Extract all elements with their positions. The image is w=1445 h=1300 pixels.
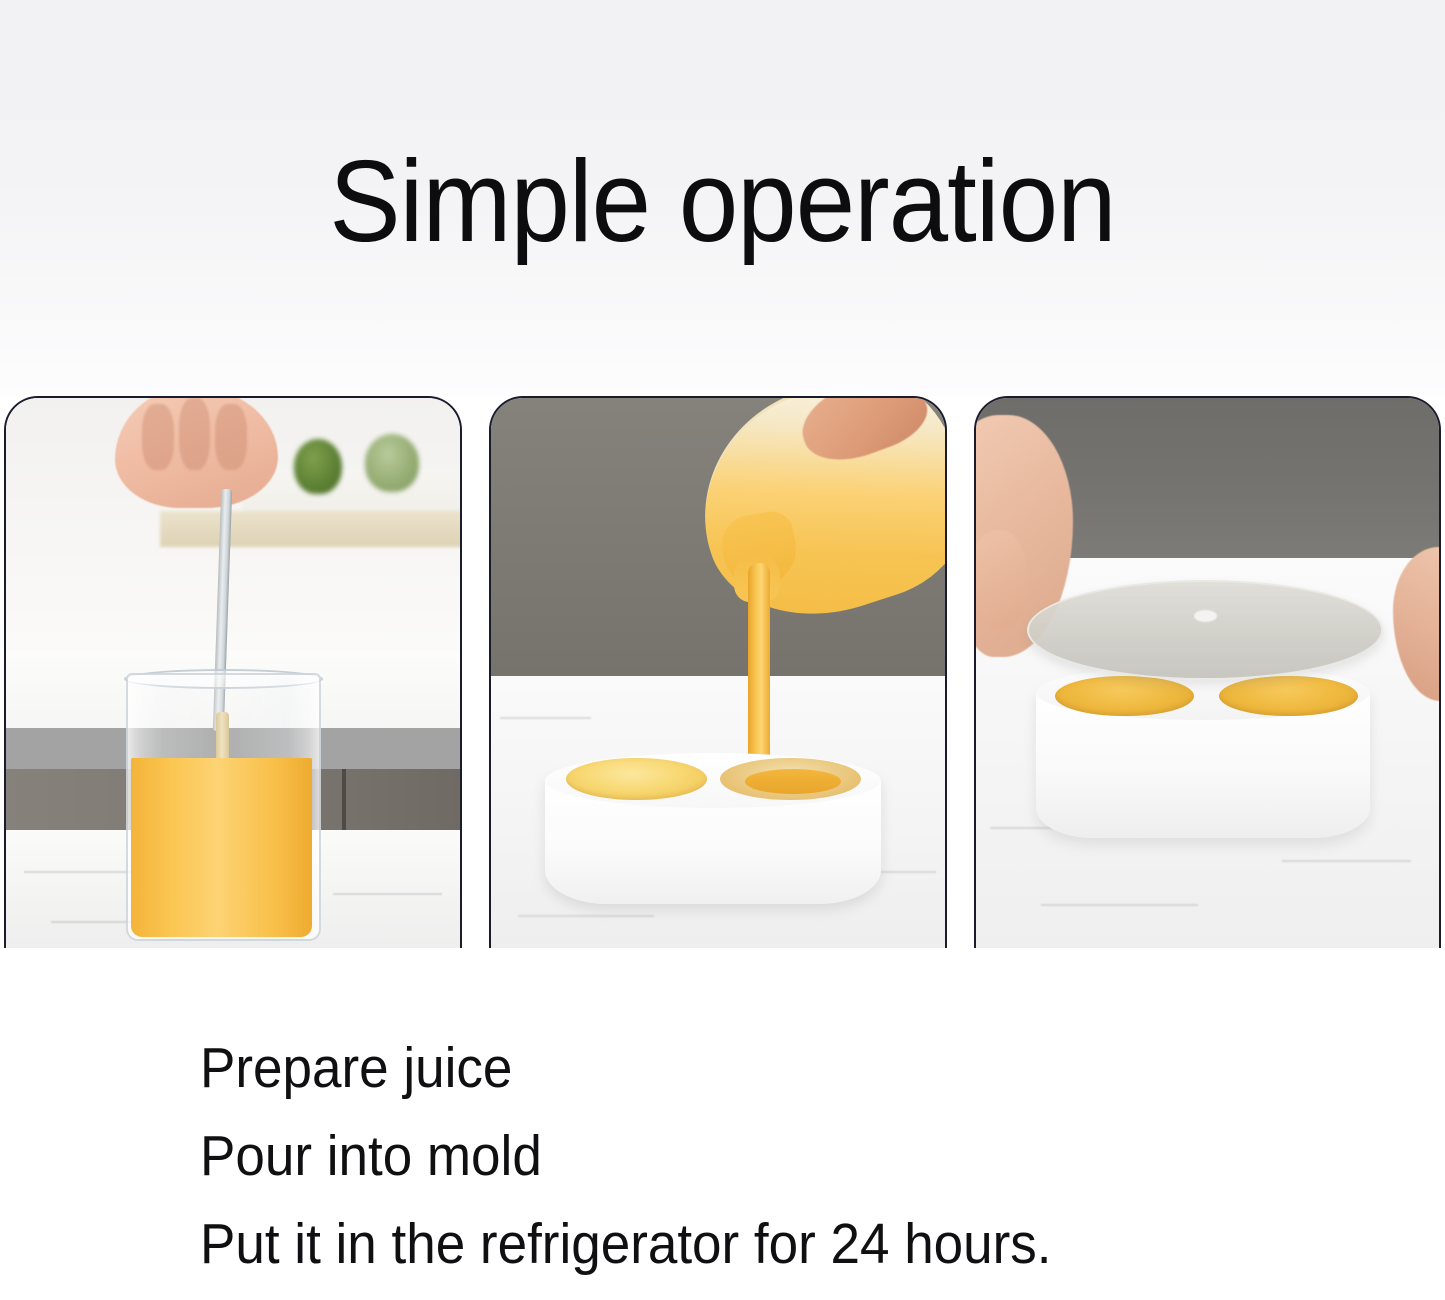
orange-juice [131,758,313,937]
header-band: Simple operation [0,0,1445,396]
step-photo-2-pour-into-mold [489,396,947,948]
lid-highlight [1194,610,1217,622]
mold-cavity-filled [1055,676,1194,717]
marble-vein [500,717,591,719]
instruction-step-3: Put it in the refrigerator for 24 hours. [200,1216,1052,1273]
marble-vein [51,921,133,923]
cabinet-seam [342,769,346,830]
mold-lid [1027,580,1383,680]
instruction-step-1: Prepare juice [200,1040,512,1097]
plant-icon [365,434,419,492]
mold-cavity-filled [1219,676,1358,717]
plant-icon [294,439,342,494]
finger [215,404,247,470]
mold-cavity-filled [566,758,707,800]
instruction-list: Prepare juice Pour into mold Put it in t… [0,1010,1445,1300]
scene-placing-lid [976,398,1439,948]
marble-vein [333,893,442,895]
finger [179,398,211,470]
step-photo-3-cover-with-lid [974,396,1441,948]
scene-pouring-juice [491,398,945,948]
marble-vein [1041,904,1198,906]
thumb [974,530,1027,629]
scene-kitchen-counter [6,398,460,948]
finger [142,404,174,470]
product-infographic: Simple operation [0,0,1445,1300]
page-title: Simple operation [58,143,1387,259]
marble-vein [24,871,142,873]
step-photo-strip [0,396,1445,950]
step-photo-1-prepare-juice [4,396,462,948]
wooden-board [160,511,462,547]
instruction-step-2: Pour into mold [200,1128,542,1185]
marble-vein [1282,860,1412,862]
marble-vein [518,915,654,917]
cavity-juice-pool [745,769,840,794]
